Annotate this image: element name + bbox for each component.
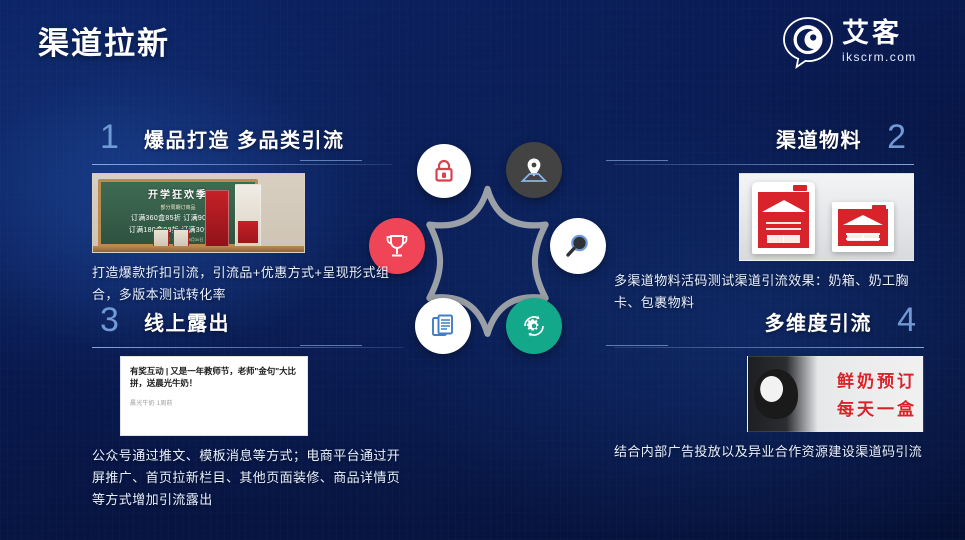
section-1-divider [92,164,392,165]
search-icon [563,231,593,261]
brand-stamp-small [872,205,886,211]
section-2-number: 2 [887,118,906,156]
icon-bubble-documents[interactable] [415,298,471,354]
milk-box-card-small [832,202,894,252]
shelf-bar [93,246,304,252]
logo-brand-cn: 艾客 [842,18,917,48]
panel-line-1 [766,222,801,224]
ad-line-1: 鲜奶预订 [837,367,917,392]
gear-refresh-icon [519,311,549,341]
section-4: 4 多维度引流 鲜奶预订 每天一盒 结合内部广告投放以及异业合作资源建设渠道码引… [614,305,924,463]
section-3: 3 线上露出 有奖互动 | 又是一年教师节，老师"金句"大比拼，送晨光牛奶！ 晨… [92,305,404,511]
house-roof-shape-small [843,215,883,225]
logo-wordmark: 艾客 ikscrm.com [842,14,917,64]
section-1-title: 爆品打造 多品类引流 [92,122,392,160]
section-4-number: 4 [897,301,916,339]
small-pack-1 [153,229,169,247]
icon-bubble-lock[interactable] [417,144,471,198]
cow-head-graphic [754,369,798,419]
logo-url: ikscrm.com [842,50,917,64]
section-3-description: 公众号通过推文、模板消息等方式；电商平台通过开屏推广、首页拉新栏目、其他页面装修… [92,445,404,511]
section-4-header: 4 多维度引流 [614,305,924,345]
article-title: 有奖互动 | 又是一年教师节，老师"金句"大比拼，送晨光牛奶！ [130,365,298,389]
section-2: 2 渠道物料 [614,122,914,314]
section-4-description: 结合内部广告投放以及异业合作资源建设渠道码引流 [614,441,924,463]
section-1-description: 打造爆款折扣引流，引流品+优惠方式+呈现形式组合，多版本测试转化率 [92,262,392,306]
location-pin-icon [519,155,549,185]
qr-tag-right-small [862,233,879,241]
section-1: 1 爆品打造 多品类引流 开学狂欢季 部分周期订商品 订满360盒85折 订满9… [92,122,392,306]
brand-stamp-large [793,185,807,191]
section-2-divider [614,164,914,165]
banner-subline: 部分周期订商品 [101,204,255,211]
section-1-header: 1 爆品打造 多品类引流 [92,122,392,162]
red-panel-large [758,192,809,248]
milk-carton-white [235,184,261,248]
section-1-media[interactable]: 开学狂欢季 部分周期订商品 订满360盒85折 订满90盒9折 订满180盒88… [92,173,392,253]
panel-line-2 [766,228,801,230]
lock-icon [430,157,458,185]
section-1-number: 1 [100,118,119,156]
milk-ad-image: 鲜奶预订 每天一盒 [747,356,924,432]
red-panel-small [838,209,888,246]
wechat-article-card: 有奖互动 | 又是一年教师节，老师"金句"大比拼，送晨光牛奶！ 晨光牛奶 1周前 [120,356,308,436]
ad-line-2: 每天一盒 [837,395,917,420]
section-3-title: 线上露出 [92,305,404,343]
milk-carton-red [205,190,229,248]
section-3-header: 3 线上露出 [92,305,404,345]
article-meta: 晨光牛奶 1周前 [130,398,298,407]
small-pack-2 [173,229,189,247]
banner-offer-1: 订满360盒85折 订满90盒9折 [101,213,255,223]
banner-headline: 开学狂欢季 [101,186,255,201]
icon-bubble-search[interactable] [550,218,606,274]
speech-bubble-moon-icon [780,14,836,70]
section-3-number: 3 [100,301,119,339]
slide-canvas: 渠道拉新 艾客 ikscrm.com 1 爆品打造 多品类引流 开学狂欢季 部分… [0,0,965,540]
section-3-media[interactable]: 有奖互动 | 又是一年教师节，老师"金句"大比拼，送晨光牛奶！ 晨光牛奶 1周前 [120,356,404,436]
promo-banner-image: 开学狂欢季 部分周期订商品 订满360盒85折 订满90盒9折 订满180盒88… [92,173,305,253]
house-roof-shape-large [762,200,806,212]
section-2-media[interactable] [614,173,914,261]
documents-icon [428,311,458,341]
icon-bubble-location[interactable] [506,142,562,198]
milk-box-card-large [752,182,815,254]
material-photo [739,173,914,261]
qr-tag-left [767,235,784,243]
icon-bubble-gear-refresh[interactable] [506,298,562,354]
section-3-divider [92,347,404,348]
section-4-media[interactable]: 鲜奶预订 每天一盒 [614,356,924,432]
page-title: 渠道拉新 [38,18,170,63]
section-4-divider [614,347,924,348]
section-4-title: 多维度引流 [614,305,924,343]
qr-tag-right [783,235,800,243]
section-2-header: 2 渠道物料 [614,122,914,162]
brand-logo: 艾客 ikscrm.com [780,14,945,76]
section-2-title: 渠道物料 [614,122,914,160]
